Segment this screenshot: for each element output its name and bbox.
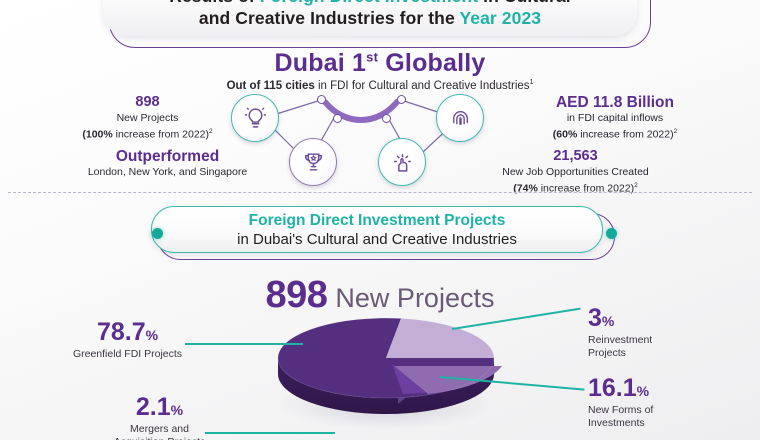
stat-new-jobs-value: 21,563 — [448, 148, 703, 165]
title-line-2: and Creative Industries for the Year 202… — [199, 7, 541, 29]
network-joint-icon — [397, 95, 406, 104]
callout-greenfield: 78.7% Greenfield FDI Projects — [45, 320, 210, 361]
pie-chart-svg — [270, 300, 505, 435]
callout-new-forms-number: 16.1 — [588, 374, 637, 402]
stat-outperformed-value: Outperformed — [60, 148, 275, 165]
fingerprint-icon — [448, 106, 473, 131]
stat-new-projects-note-sup: 2 — [209, 128, 213, 135]
stat-new-projects-note-rest: increase from 2022) — [113, 129, 209, 141]
fingerprint-icon-node — [436, 94, 484, 142]
fdi-projects-card-line-2: in Dubai's Cultural and Creative Industr… — [237, 230, 517, 249]
callout-reinvestment-sign: % — [602, 313, 614, 329]
network-joint-icon — [317, 95, 326, 104]
stat-aed-inflows-note: (60% increase from 2022)2 — [500, 125, 730, 142]
stat-aed-inflows-note-bold: (60% — [553, 129, 578, 141]
callout-greenfield-pct: 78.7% — [45, 320, 210, 345]
callout-new-forms-desc: New Forms of Investments — [588, 404, 748, 430]
callout-mergers: 2.1% Mergers and Acquisition Projects — [72, 395, 247, 440]
callout-reinvestment: 3% Reinvestment Projects — [588, 306, 738, 360]
stat-outperformed-label: London, New York, and Singapore — [60, 165, 275, 179]
trophy-award-icon-node — [289, 138, 337, 186]
stat-new-projects-label: New Projects — [40, 111, 255, 125]
stat-new-projects-note: (100% increase from 2022)2 — [40, 125, 255, 142]
stat-aed-inflows-value: AED 11.8 Billion — [500, 94, 730, 111]
title-line-1-post: in Cultural — [478, 0, 571, 6]
hand-sparkle-icon-node — [378, 138, 426, 186]
callout-new-forms: 16.1% New Forms of Investments — [588, 376, 748, 430]
stat-new-jobs-note: (74% increase from 2022)2 — [448, 179, 703, 196]
trophy-award-icon — [301, 150, 326, 175]
stat-new-projects: 898 New Projects (100% increase from 202… — [40, 94, 255, 142]
dubai-rank-sup: st — [366, 50, 378, 65]
stat-outperformed: Outperformed London, New York, and Singa… — [60, 148, 275, 179]
stat-aed-inflows-label: in FDI capital inflows — [500, 111, 730, 125]
stat-aed-inflows: AED 11.8 Billion in FDI capital inflows … — [500, 94, 730, 142]
stat-new-jobs-label: New Job Opportunities Created — [448, 165, 703, 179]
stat-aed-inflows-note-rest: increase from 2022) — [577, 129, 673, 141]
fdi-projects-pie-chart — [270, 300, 505, 435]
report-title-card: Results of Foreign Direct Investment in … — [103, 0, 657, 48]
network-joint-icon — [382, 114, 391, 123]
callout-mergers-sign: % — [171, 402, 183, 418]
infographic-page: Results of Foreign Direct Investment in … — [0, 0, 760, 440]
callout-reinvestment-pct: 3% — [588, 306, 738, 331]
dubai-rank-sub-sup: 1 — [530, 79, 534, 86]
fdi-projects-card-line-1: Foreign Direct Investment Projects — [249, 211, 506, 230]
stat-new-jobs: 21,563 New Job Opportunities Created (74… — [448, 148, 703, 196]
title-line-1: Results of Foreign Direct Investment in … — [169, 0, 571, 7]
dubai-rank-pre: Dubai 1 — [274, 49, 366, 77]
callout-new-forms-sign: % — [637, 383, 649, 399]
title-line-2-accent: Year 2023 — [459, 8, 541, 28]
callout-new-forms-pct: 16.1% — [588, 376, 748, 401]
callout-reinvestment-desc: Reinvestment Projects — [588, 334, 738, 360]
stat-aed-inflows-note-sup: 2 — [674, 128, 678, 135]
callout-greenfield-sign: % — [146, 327, 158, 343]
callout-greenfield-number: 78.7 — [97, 318, 146, 346]
dubai-rank-post: Globally — [378, 49, 485, 77]
callout-mergers-desc: Mergers and Acquisition Projects — [72, 423, 247, 440]
dubai-rank-heading: Dubai 1st Globally — [0, 49, 760, 78]
fdi-projects-card: Foreign Direct Investment Projects in Du… — [151, 206, 621, 260]
network-joint-icon — [333, 114, 342, 123]
callout-mergers-number: 2.1 — [136, 393, 171, 421]
fdi-projects-card-body: Foreign Direct Investment Projects in Du… — [151, 206, 603, 253]
title-line-1-pre: Results of — [169, 0, 260, 6]
title-line-1-accent: Foreign Direct Investment — [260, 0, 478, 6]
title-line-2-pre: and Creative Industries for the — [199, 8, 460, 28]
callout-mergers-pct: 2.1% — [72, 395, 247, 420]
stat-new-projects-value: 898 — [40, 94, 255, 111]
fdi-card-dot-left-icon — [152, 228, 163, 239]
callout-greenfield-desc: Greenfield FDI Projects — [45, 348, 210, 361]
fdi-card-dot-right-icon — [606, 228, 617, 239]
stat-new-projects-note-bold: (100% — [82, 129, 112, 141]
stat-new-jobs-note-sup: 2 — [634, 182, 638, 189]
hand-sparkle-icon — [390, 150, 415, 175]
callout-reinvestment-number: 3 — [588, 304, 602, 332]
section-divider — [8, 192, 752, 193]
title-card-body: Results of Foreign Direct Investment in … — [103, 0, 637, 36]
